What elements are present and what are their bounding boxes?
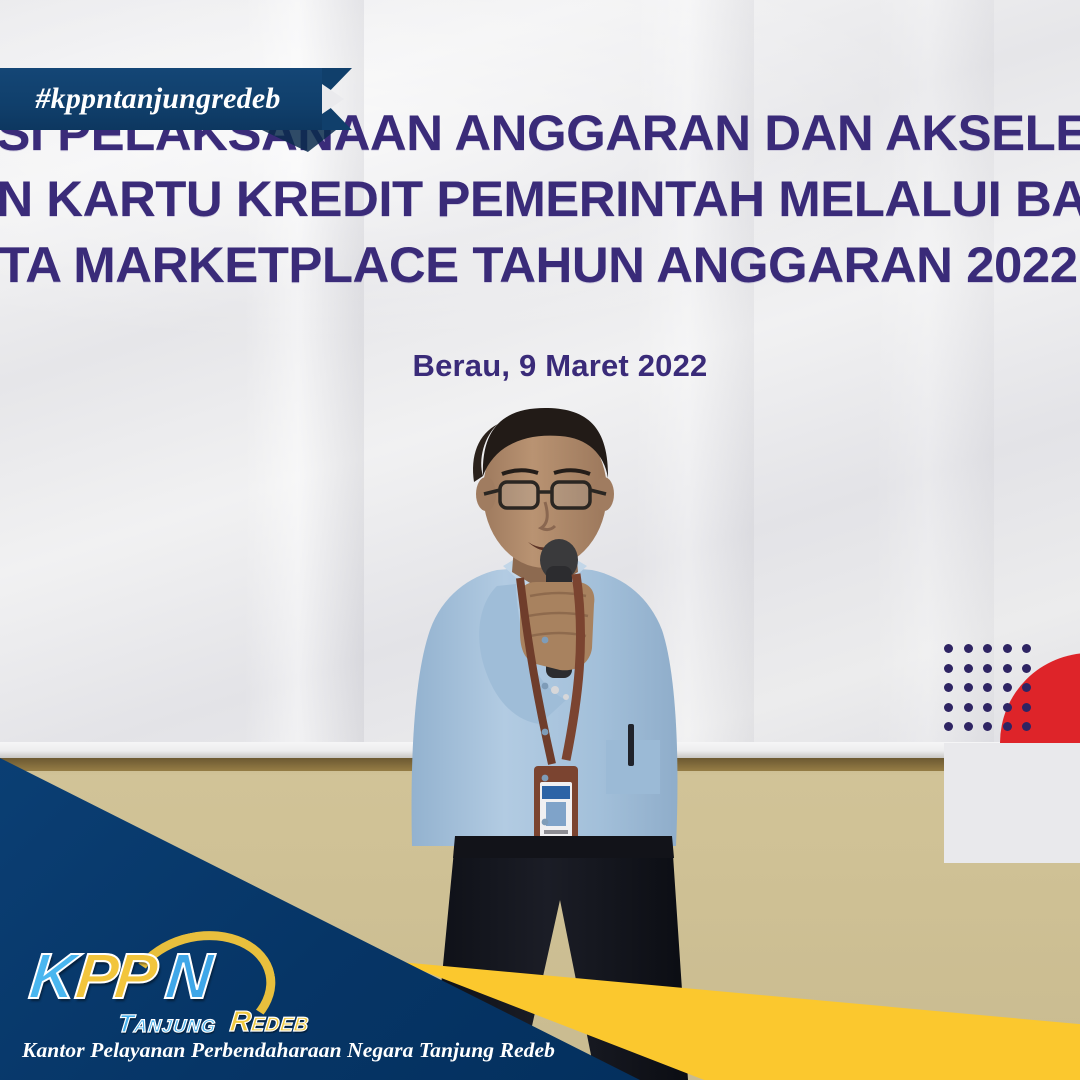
headline-line-3: RTA MARKETPLACE TAHUN ANGGARAN 2022: [0, 232, 1080, 298]
banner-date-text: Berau, 9 Maret 2022: [0, 348, 1080, 384]
banner-decoration: [944, 644, 1074, 754]
hashtag-text: #kppntanjungredeb: [0, 68, 322, 130]
kppn-logo-lockup: K PP N Tanjung Redeb Kantor Pelayanan Pe…: [14, 938, 464, 1068]
logo-letters-pp: PP: [73, 944, 157, 1008]
banner-bottom-edge: [0, 742, 1080, 758]
dot-grid-decoration: [944, 644, 1042, 742]
hashtag-ribbon: #kppntanjungredeb: [0, 68, 352, 130]
ribbon-notch: [322, 84, 344, 114]
logo-tagline: Kantor Pelayanan Perbendaharaan Negara T…: [22, 1038, 492, 1063]
decoration-clip-mask: [944, 743, 1080, 863]
logo-subtext-tanjung: Tanjung: [117, 1012, 218, 1037]
logo-letter-k: K: [27, 944, 80, 1008]
headline-line-2: AN KARTU KREDIT PEMERINTAH MELALUI BA: [0, 166, 1080, 232]
logo-subtext-redeb: Redeb: [228, 1008, 310, 1037]
social-media-post-image: NSI PELAKSANAAN ANGGARAN DAN AKSELERA AN…: [0, 0, 1080, 1080]
logo-letter-n: N: [163, 944, 216, 1008]
kppn-logo-mark: K PP N Tanjung Redeb: [14, 938, 334, 1034]
